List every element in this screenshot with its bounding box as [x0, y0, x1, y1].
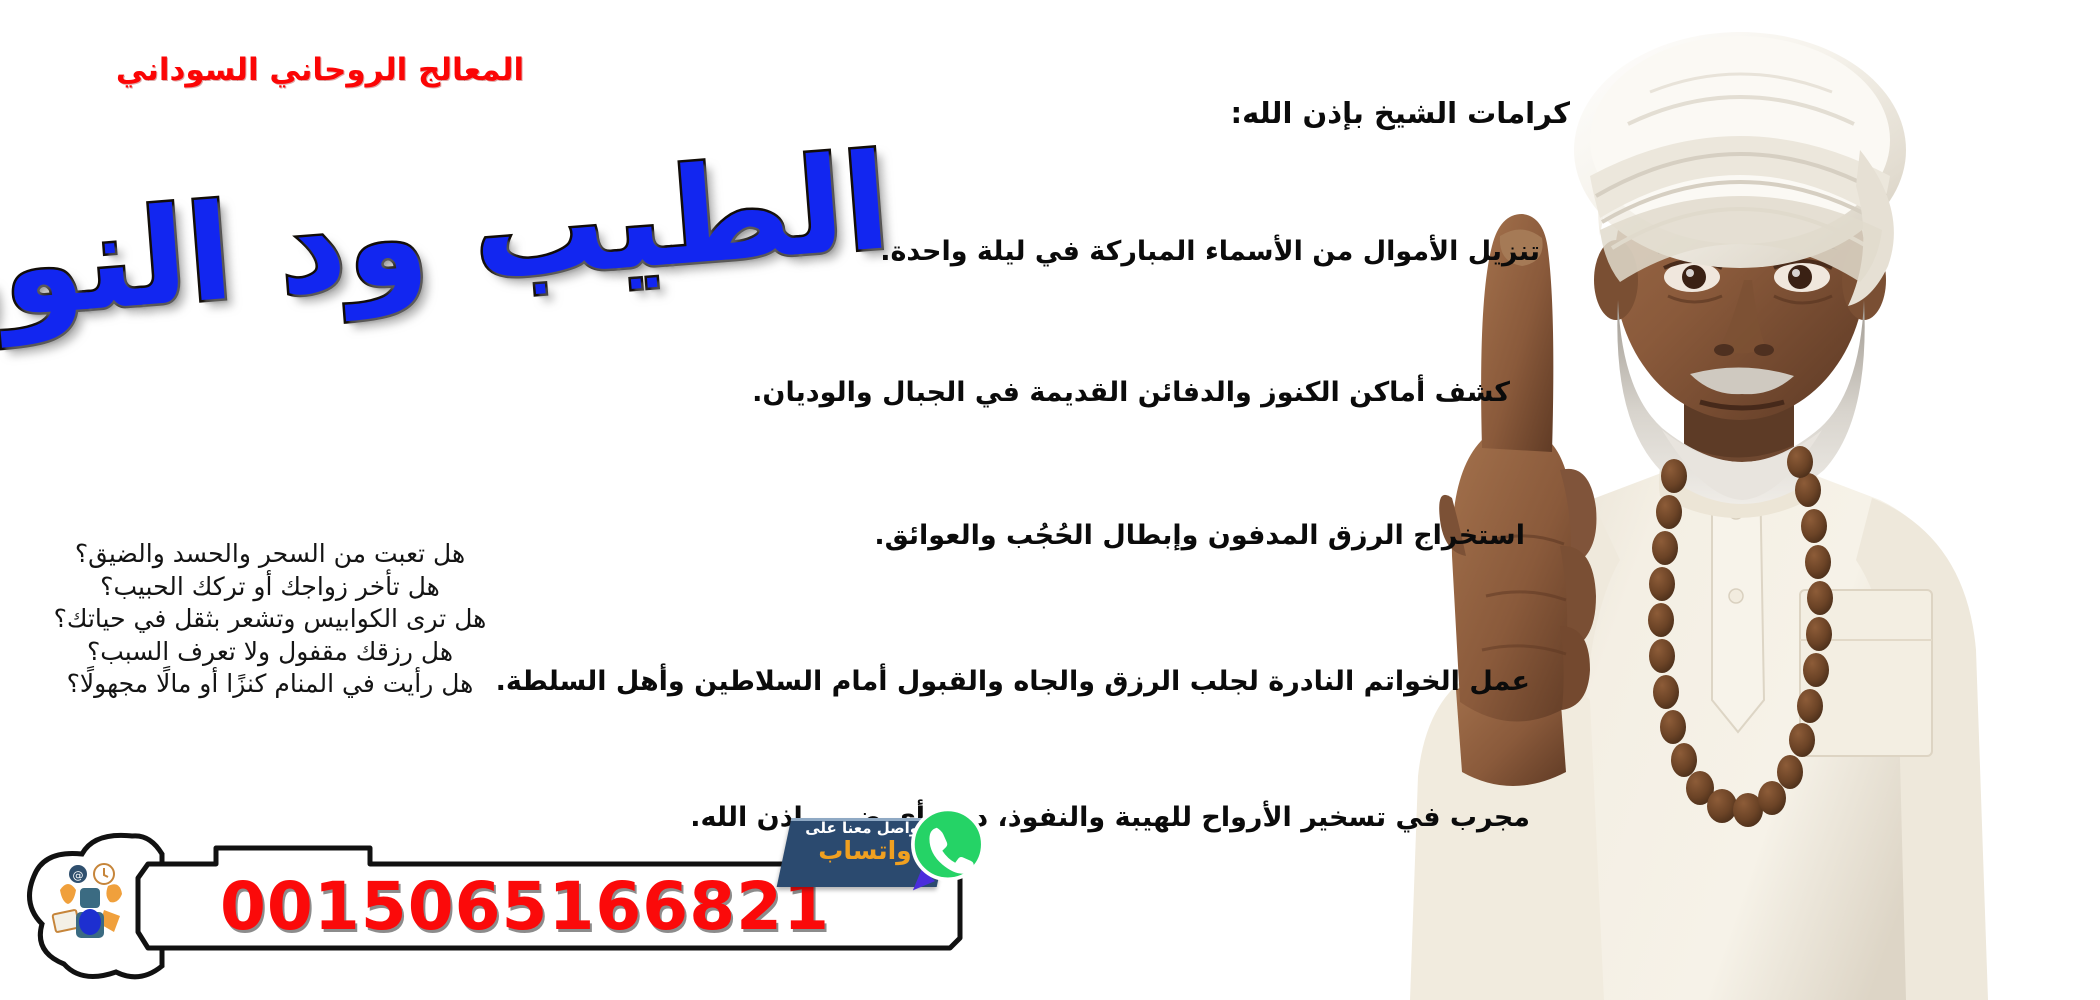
turban — [1574, 32, 1906, 306]
service-item: عمل الخواتم النادرة لجلب الرزق والجاه وا… — [496, 666, 1530, 697]
tagline: المعالج الروحاني السوداني — [0, 52, 640, 88]
phone-number[interactable]: 0015065166821 — [220, 868, 780, 945]
thobe-body — [1510, 462, 1982, 1000]
sheikh-portrait-illustration — [1260, 0, 2100, 1000]
service-item: كشف أماكن الكنوز والدفائن القديمة في الج… — [752, 377, 1510, 408]
beard — [1617, 300, 1864, 504]
face — [1614, 116, 1866, 420]
svg-text:@: @ — [73, 869, 84, 882]
contact-icons-cluster: @ — [42, 854, 138, 950]
whatsapp-badge[interactable]: تواصل معنا على واتساب — [784, 810, 984, 898]
advertisement-banner: المعالج الروحاني السوداني الطيب ود النور… — [0, 0, 2100, 1000]
question-item: هل رأيت في المنام كنزًا أو مالًا مجهولًا… — [0, 668, 540, 701]
services-heading: كرامات الشيخ بإذن الله: — [1231, 96, 1570, 130]
contact-bar[interactable]: @ 0015065166821 تواصل معنا على واتساب — [20, 820, 980, 980]
service-item: تنزيل الأموال من الأسماء المباركة في ليل… — [880, 236, 1540, 267]
whatsapp-icon[interactable] — [900, 802, 992, 894]
page-title: الطيب ود النور — [5, 113, 896, 358]
questions-block: هل تعبت من السحر والحسد والضيق؟ هل تأخر … — [0, 538, 540, 701]
raised-hand-index-finger — [1410, 214, 1604, 1000]
sheikh-photo — [1260, 0, 2100, 1000]
question-item: هل رزقك مقفول ولا تعرف السبب؟ — [0, 636, 540, 669]
question-item: هل تعبت من السحر والحسد والضيق؟ — [0, 538, 540, 571]
prayer-beads-necklace — [1648, 446, 1833, 835]
question-item: هل تأخر زواجك أو تركك الحبيب؟ — [0, 571, 540, 604]
service-item: استخراج الرزق المدفون وإبطال الحُجُب وال… — [874, 520, 1525, 551]
question-item: هل ترى الكوابيس وتشعر بثقل في حياتك؟ — [0, 603, 540, 636]
